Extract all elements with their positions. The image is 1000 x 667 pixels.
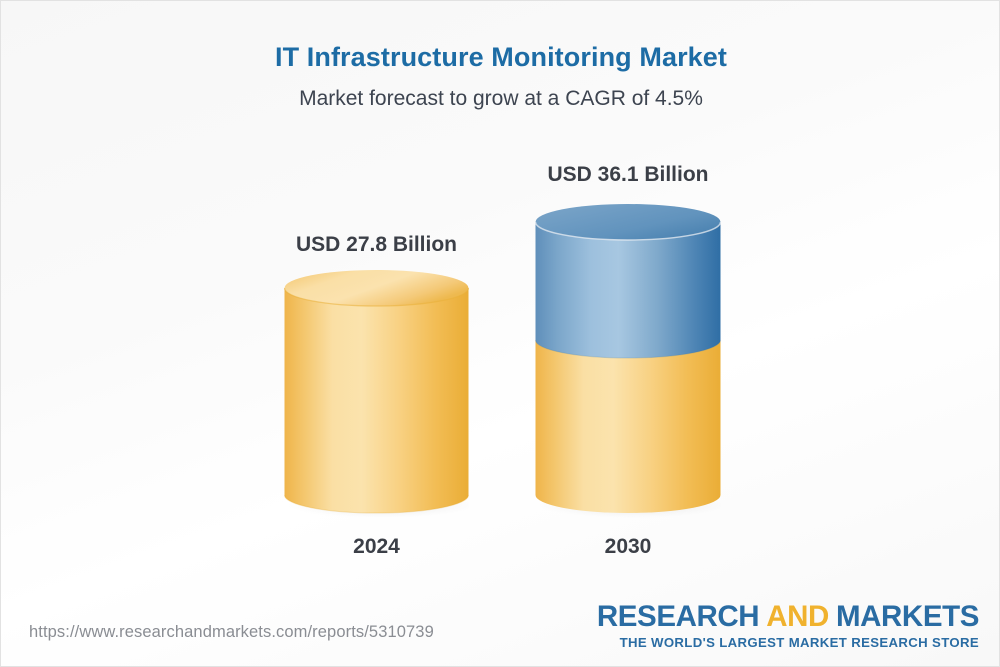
cylinder-2024	[284, 269, 469, 519]
logo-word-and: AND	[766, 600, 829, 633]
logo-wordmark: RESEARCHANDMARKETS	[597, 601, 979, 633]
chart-plot-area: USD 27.8 Billion	[1, 1, 1000, 667]
logo-word-markets: MARKETS	[836, 600, 979, 633]
cylinder-2030-svg	[535, 203, 721, 519]
cylinder-2024-svg	[284, 269, 469, 519]
logo-word-research: RESEARCH	[597, 600, 759, 633]
category-label-2024: 2024	[284, 534, 469, 560]
category-label-2030: 2030	[535, 534, 721, 560]
infographic-canvas: IT Infrastructure Monitoring Market Mark…	[0, 0, 1000, 667]
value-label-2024: USD 27.8 Billion	[284, 231, 469, 259]
logo-tagline: THE WORLD'S LARGEST MARKET RESEARCH STOR…	[597, 634, 979, 651]
source-url-link[interactable]: https://www.researchandmarkets.com/repor…	[29, 623, 434, 642]
cylinder-2030	[535, 203, 721, 519]
research-and-markets-logo[interactable]: RESEARCHANDMARKETS THE WORLD'S LARGEST M…	[597, 601, 979, 651]
value-label-2030: USD 36.1 Billion	[535, 161, 721, 189]
